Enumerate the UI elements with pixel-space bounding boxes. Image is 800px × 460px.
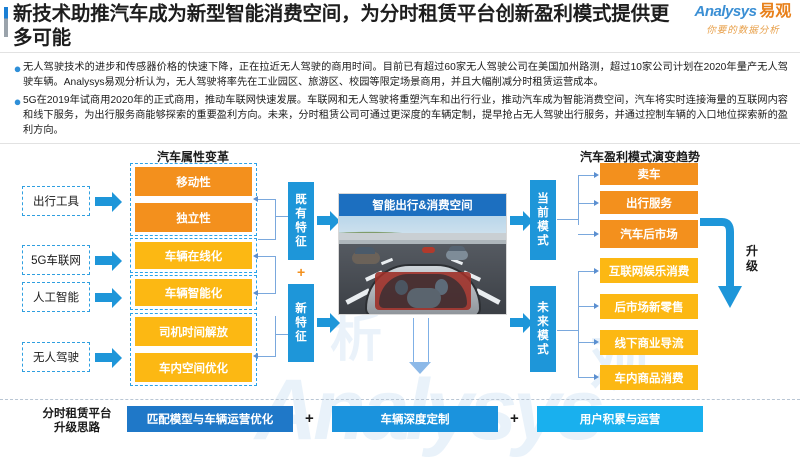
profit-chip-future-0[interactable]: 互联网娱乐消费 <box>600 258 698 283</box>
connector-line <box>578 234 594 235</box>
bullet-dot-icon: ● <box>12 93 23 109</box>
input-box-3[interactable]: 无人驾驶 <box>22 342 90 372</box>
profit-chip-label: 互联网娱乐消费 <box>609 263 690 279</box>
connector-line <box>275 334 289 335</box>
attribute-chip-label: 独立性 <box>176 210 211 226</box>
image-overpass <box>339 233 506 240</box>
profit-chip-label: 卖车 <box>638 166 661 182</box>
summary-text-block: ● 无人驾驶技术的进步和传感器价格的快速下降，正在拉近无人驾驶的商用时间。目前已… <box>0 52 800 144</box>
strategy-chip-2[interactable]: 用户积累与运营 <box>537 406 703 432</box>
profit-chip-future-3[interactable]: 车内商品消费 <box>600 365 698 390</box>
strategy-chip-1[interactable]: 车辆深度定制 <box>332 406 498 432</box>
feature-plus-sign: + <box>297 264 305 280</box>
arrow-input-2 <box>95 293 113 302</box>
background-car <box>422 247 435 253</box>
bullet-item: ● 无人驾驶技术的进步和传感器价格的快速下降，正在拉近无人驾驶的商用时间。目前已… <box>12 60 788 90</box>
slide-header: 新技术助推汽车成为新型智能消费空间，为分时租赁平台创新盈利模式提供更多可能 An… <box>0 0 800 52</box>
connector-line <box>578 342 594 343</box>
connector-line <box>578 175 594 176</box>
profit-chip-future-2[interactable]: 线下商业导流 <box>600 330 698 355</box>
arrow-center-to-future <box>510 318 524 327</box>
diagram-canvas: Analysys 观 析 汽车属性变革 汽车盈利模式演变趋势 出行工具 5G车联… <box>0 146 800 399</box>
arrow-input-0 <box>95 197 113 206</box>
attribute-chip-4[interactable]: 司机时间解放 <box>135 317 252 346</box>
arrow-input-3 <box>95 353 113 362</box>
logo-tagline: 你要的数据分析 <box>690 22 796 36</box>
connector-line <box>557 330 579 331</box>
profit-chip-label: 线下商业导流 <box>615 335 684 351</box>
connector-line <box>578 175 579 225</box>
hero-car <box>365 264 481 314</box>
hero-car-canopy <box>379 274 467 308</box>
connector-arrow <box>594 200 599 206</box>
profit-chip-future-1[interactable]: 后市场新零售 <box>600 294 698 319</box>
connector-arrow <box>594 303 599 309</box>
bottom-strategy-bar: 分时租赁平台升级思路 匹配模型与车辆运营优化 + 车辆深度定制 + 用户积累与运… <box>0 399 800 439</box>
connector-line <box>578 271 579 377</box>
connector-arrow <box>594 231 599 237</box>
connector-line <box>275 199 276 239</box>
input-box-label: 无人驾驶 <box>33 349 79 365</box>
cabin-table <box>407 288 441 308</box>
bullet-text: 无人驾驶技术的进步和传感器价格的快速下降，正在拉近无人驾驶的商用时间。目前已有超… <box>23 60 788 90</box>
profit-chip-label: 车内商品消费 <box>615 370 684 386</box>
brand-logo: Analysys易观 你要的数据分析 <box>690 4 796 36</box>
input-box-0[interactable]: 出行工具 <box>22 186 90 216</box>
background-car-roof <box>355 247 375 254</box>
upgrade-label: 升级 <box>744 244 760 274</box>
bullet-text: 5G在2019年试商用2020年的正式商用，推动车联网快速发展。车联网和无人驾驶… <box>23 93 788 138</box>
connector-arrow <box>253 196 258 202</box>
mode-block-label: 当前模式 <box>537 192 550 248</box>
center-image <box>339 216 506 314</box>
arrow-existing-to-center <box>317 216 331 225</box>
attribute-chip-label: 车辆智能化 <box>165 285 223 301</box>
feature-block-label: 新特征 <box>295 302 308 344</box>
connector-line <box>578 377 594 378</box>
connector-line <box>275 256 276 293</box>
connector-line <box>258 356 276 357</box>
downward-arrow-stem <box>413 318 429 362</box>
connector-arrow <box>253 253 258 259</box>
strategy-plus-1: + <box>510 410 519 427</box>
bullet-item: ● 5G在2019年试商用2020年的正式商用，推动车联网快速发展。车联网和无人… <box>12 93 788 138</box>
profit-chip-label: 出行服务 <box>626 195 672 211</box>
connector-line <box>578 203 594 204</box>
input-box-2[interactable]: 人工智能 <box>22 282 90 312</box>
arrow-new-to-center <box>317 318 331 327</box>
feature-block-new[interactable]: 新特征 <box>288 284 314 362</box>
connector-arrow <box>594 172 599 178</box>
arrow-center-to-current <box>510 216 524 225</box>
profit-chip-current-2[interactable]: 汽车后市场 <box>600 220 698 248</box>
attribute-chip-label: 司机时间解放 <box>159 324 228 340</box>
strategy-chip-label: 车辆深度定制 <box>381 411 450 427</box>
upgrade-arrow-icon <box>696 216 742 316</box>
mode-block-current[interactable]: 当前模式 <box>530 180 556 260</box>
input-box-1[interactable]: 5G车联网 <box>22 245 90 275</box>
connector-arrow <box>253 353 258 359</box>
strategy-chip-label: 用户积累与运营 <box>580 411 661 427</box>
connector-line <box>258 239 276 240</box>
bottom-bar-label: 分时租赁平台升级思路 <box>38 407 116 435</box>
connector-line <box>258 199 276 200</box>
center-caption: 智能出行&消费空间 <box>339 194 506 216</box>
center-illustration: 智能出行&消费空间 <box>339 194 506 314</box>
attribute-chip-1[interactable]: 独立性 <box>135 203 252 232</box>
profit-chip-label: 汽车后市场 <box>620 226 678 242</box>
occupant <box>395 280 408 295</box>
connector-line <box>557 219 579 220</box>
strategy-chip-label: 匹配模型与车辆运营优化 <box>147 411 274 427</box>
mode-block-label: 未来模式 <box>537 301 550 357</box>
profit-chip-current-0[interactable]: 卖车 <box>600 163 698 185</box>
attribute-chip-label: 车辆在线化 <box>165 248 223 264</box>
title-accent-bar <box>4 7 8 37</box>
background-car-roof <box>449 246 465 251</box>
page-title: 新技术助推汽车成为新型智能消费空间，为分时租赁平台创新盈利模式提供更多可能 <box>13 2 673 50</box>
logo-main-row: Analysys易观 <box>690 4 796 20</box>
connector-arrow <box>594 268 599 274</box>
connector-arrow <box>253 290 258 296</box>
profit-chip-label: 后市场新零售 <box>615 299 684 315</box>
mode-block-future[interactable]: 未来模式 <box>530 286 556 372</box>
attribute-chip-3[interactable]: 车辆智能化 <box>135 279 252 306</box>
logo-en-text: Analysys <box>695 3 757 20</box>
connector-line <box>578 306 594 307</box>
input-box-label: 人工智能 <box>33 289 79 305</box>
attribute-chip-label: 移动性 <box>176 174 211 190</box>
profit-chip-current-1[interactable]: 出行服务 <box>600 191 698 214</box>
input-box-label: 5G车联网 <box>31 252 81 268</box>
downward-arrow-head <box>409 362 431 374</box>
bullet-dot-icon: ● <box>12 60 23 76</box>
connector-arrow <box>594 339 599 345</box>
connector-line <box>275 316 276 356</box>
connector-line <box>578 271 594 272</box>
connector-line <box>258 293 276 294</box>
feature-block-existing[interactable]: 既有特征 <box>288 182 314 260</box>
feature-block-label: 既有特征 <box>295 193 308 249</box>
strategy-chip-0[interactable]: 匹配模型与车辆运营优化 <box>127 406 293 432</box>
attribute-chip-0[interactable]: 移动性 <box>135 167 252 196</box>
input-box-label: 出行工具 <box>33 193 79 209</box>
connector-line <box>275 216 289 217</box>
attribute-chip-2[interactable]: 车辆在线化 <box>135 242 252 269</box>
strategy-plus-0: + <box>305 410 314 427</box>
logo-cn-text: 易观 <box>759 3 791 20</box>
attribute-chip-5[interactable]: 车内空间优化 <box>135 353 252 382</box>
slide-root: 新技术助推汽车成为新型智能消费空间，为分时租赁平台创新盈利模式提供更多可能 An… <box>0 0 800 439</box>
connector-line <box>258 256 276 257</box>
connector-arrow <box>594 374 599 380</box>
arrow-input-1 <box>95 256 113 265</box>
background-car <box>446 250 468 260</box>
attribute-chip-label: 车内空间优化 <box>159 360 228 376</box>
